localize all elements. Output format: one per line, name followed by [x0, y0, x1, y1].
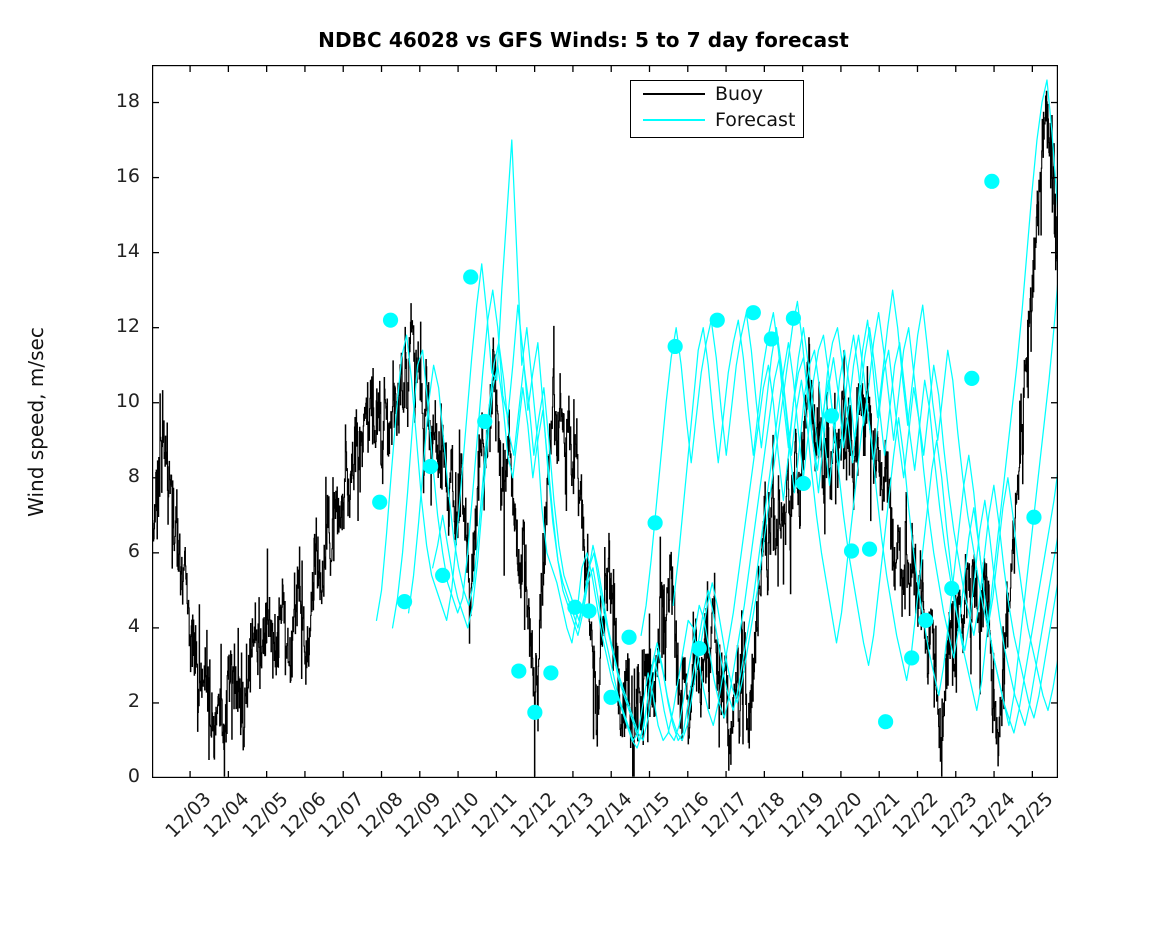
forecast-marker	[621, 630, 636, 645]
legend-item-buoy[interactable]: Buoy	[631, 81, 803, 107]
forecast-marker	[383, 313, 398, 328]
forecast-marker	[543, 665, 558, 680]
forecast-marker	[786, 311, 801, 326]
forecast-marker	[844, 543, 859, 558]
forecast-marker	[668, 339, 683, 354]
forecast-marker	[878, 714, 893, 729]
forecast-marker	[477, 414, 492, 429]
forecast-marker	[1026, 510, 1041, 525]
data-series-layer	[152, 65, 1058, 778]
forecast-marker	[423, 459, 438, 474]
forecast-marker	[511, 663, 526, 678]
forecast-marker	[463, 269, 478, 284]
forecast-marker	[581, 603, 596, 618]
y-tick-label: 16	[56, 165, 140, 187]
y-tick-label: 12	[56, 315, 140, 337]
legend-item-forecast[interactable]: Forecast	[631, 107, 803, 133]
forecast-marker	[567, 600, 582, 615]
forecast-marker	[862, 541, 877, 556]
y-tick-label: 2	[56, 690, 140, 712]
y-tick-label: 6	[56, 540, 140, 562]
buoy-line	[152, 91, 1058, 776]
forecast-marker	[648, 515, 663, 530]
legend-swatch-buoy	[643, 93, 705, 95]
forecast-marker	[944, 581, 959, 596]
legend-label: Forecast	[715, 111, 795, 130]
y-tick-label: 18	[56, 90, 140, 112]
chart-title: NDBC 46028 vs GFS Winds: 5 to 7 day fore…	[0, 28, 1167, 52]
forecast-marker	[397, 594, 412, 609]
legend-label: Buoy	[715, 85, 763, 104]
y-tick-label: 0	[56, 765, 140, 787]
y-tick-label: 10	[56, 390, 140, 412]
forecast-line-5	[641, 80, 1058, 710]
forecast-marker	[527, 705, 542, 720]
forecast-marker	[964, 371, 979, 386]
chart-figure: NDBC 46028 vs GFS Winds: 5 to 7 day fore…	[0, 0, 1167, 875]
y-tick-label: 4	[56, 615, 140, 637]
forecast-marker	[984, 174, 999, 189]
plot-area	[152, 65, 1058, 778]
forecast-marker	[918, 613, 933, 628]
forecast-marker	[372, 495, 387, 510]
y-tick-label: 14	[56, 240, 140, 262]
forecast-marker	[746, 305, 761, 320]
forecast-line-2	[393, 110, 1058, 740]
forecast-marker	[435, 568, 450, 583]
forecast-marker	[824, 408, 839, 423]
forecast-marker	[603, 690, 618, 705]
forecast-marker	[764, 331, 779, 346]
chart-legend[interactable]: BuoyForecast	[630, 80, 804, 138]
legend-swatch-forecast	[643, 119, 705, 121]
forecast-marker	[904, 650, 919, 665]
forecast-marker	[796, 476, 811, 491]
forecast-marker	[710, 313, 725, 328]
y-axis-label: Wind speed, m/sec	[24, 252, 48, 592]
y-tick-label: 8	[56, 465, 140, 487]
forecast-marker	[692, 641, 707, 656]
